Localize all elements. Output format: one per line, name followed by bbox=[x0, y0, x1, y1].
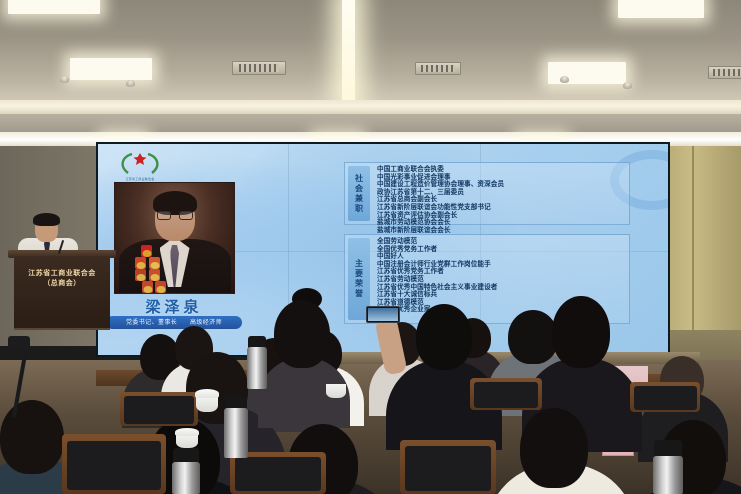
teacup-lid bbox=[195, 389, 219, 398]
portrait-medal bbox=[135, 269, 146, 281]
wall-seam bbox=[692, 146, 694, 346]
chair bbox=[120, 392, 198, 426]
wall-right bbox=[665, 146, 741, 361]
ceiling-vent bbox=[232, 61, 286, 75]
portrait-medal bbox=[155, 281, 166, 293]
ceiling-spotlight bbox=[623, 82, 632, 89]
thermos-flask[interactable] bbox=[247, 347, 267, 389]
ceiling-panel-light bbox=[618, 0, 704, 18]
teacup[interactable] bbox=[176, 434, 198, 448]
info-box-affiliations: 社会兼职 中国工商业联合会执委 中国光彩事业促进会理事 中国建设工程造价管理协会… bbox=[344, 162, 630, 225]
speaker-hair bbox=[33, 213, 60, 226]
podium-sign: 江苏省工商业联合会 （总商会） bbox=[14, 268, 110, 288]
podium-sign-line1: 江苏省工商业联合会 bbox=[14, 268, 110, 278]
portrait-medal bbox=[149, 269, 160, 281]
person-portrait-photo bbox=[114, 182, 235, 294]
thermos-flask[interactable] bbox=[172, 462, 200, 494]
podium: 江苏省工商业联合会 （总商会） bbox=[14, 256, 110, 330]
chair-back bbox=[405, 446, 491, 490]
ceiling-spotlight bbox=[560, 76, 569, 83]
audience-head bbox=[552, 296, 610, 368]
ceiling-cove-light bbox=[0, 100, 741, 114]
portrait-medal bbox=[135, 257, 146, 269]
chair-back bbox=[634, 386, 697, 411]
person-name: 梁泽泉 bbox=[104, 296, 244, 317]
audience-head bbox=[508, 310, 558, 364]
logo-caption: 江苏省工商业联合会 bbox=[110, 177, 170, 181]
ceiling-vent bbox=[708, 66, 741, 79]
chair bbox=[400, 440, 496, 494]
conference-photo: 江苏省工商业联合会 梁泽泉 党委书记、董事 bbox=[0, 0, 741, 494]
portrait-glasses bbox=[157, 211, 193, 220]
ceiling-spotlight bbox=[126, 80, 135, 87]
organization-logo: 江苏省工商业联合会 bbox=[110, 150, 170, 182]
list-item: 全国优秀党务工作者 bbox=[377, 246, 625, 254]
ceiling-strip-light bbox=[342, 0, 355, 100]
portrait-medal bbox=[142, 281, 153, 293]
thermos-flask[interactable] bbox=[653, 456, 683, 494]
info-box-tab: 社会兼职 bbox=[348, 166, 370, 221]
portrait-medal bbox=[149, 257, 160, 269]
audience-head bbox=[0, 400, 64, 474]
portrait-medal bbox=[141, 245, 152, 257]
info-box-tab-label: 社会兼职 bbox=[354, 174, 365, 214]
smartphone-screen bbox=[368, 308, 398, 321]
chair-back bbox=[67, 441, 161, 490]
ceiling-lower-band bbox=[0, 114, 741, 132]
teacup[interactable] bbox=[326, 384, 346, 398]
audience-head bbox=[416, 304, 472, 370]
chair-back bbox=[124, 396, 194, 424]
tripod-head bbox=[8, 336, 30, 350]
audience-head bbox=[520, 408, 588, 488]
chair bbox=[62, 434, 166, 494]
info-box-tab-label: 主要荣誉 bbox=[354, 259, 365, 299]
chair bbox=[230, 452, 326, 494]
podium-sign-line2: （总商会） bbox=[14, 278, 110, 288]
laurel-wreath-icon bbox=[110, 150, 170, 178]
person-subtitle: 党委书记、董事长 高级经济师 bbox=[106, 316, 242, 329]
chair-back bbox=[235, 457, 321, 491]
chair-back bbox=[474, 382, 539, 408]
thermos-flask[interactable] bbox=[224, 408, 248, 458]
chair bbox=[470, 378, 542, 410]
smartphone[interactable] bbox=[366, 306, 400, 323]
chair bbox=[630, 382, 700, 412]
ceiling-vent bbox=[415, 62, 461, 75]
audience-head bbox=[274, 300, 330, 368]
info-box-list: 中国工商业联合会执委 中国光彩事业促进会理事 中国建设工程造价管理协会理事、资深… bbox=[373, 163, 629, 224]
ceiling-spotlight bbox=[60, 76, 69, 83]
teacup-lid bbox=[175, 428, 199, 436]
teacup[interactable] bbox=[196, 396, 218, 412]
ceiling-panel-light bbox=[70, 58, 152, 80]
ceiling-panel-light bbox=[8, 0, 100, 14]
